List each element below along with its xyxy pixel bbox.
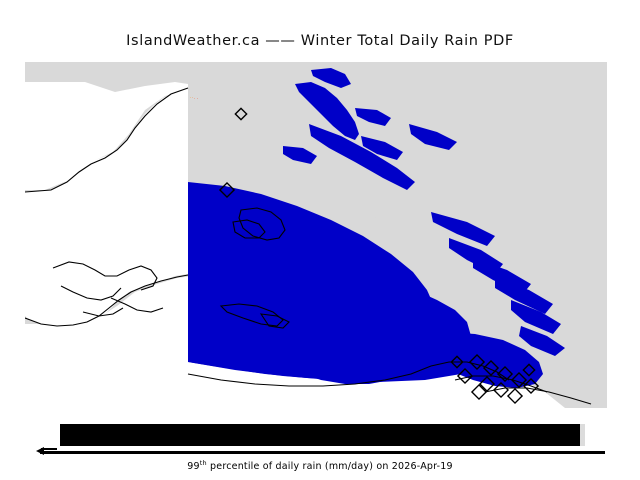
- map-panel[interactable]: [25, 62, 607, 408]
- caption-ordinal-suffix: th: [200, 459, 207, 467]
- caption-percentile-number: 99: [187, 461, 200, 472]
- figure-root: IslandWeather.ca —— Winter Total Daily R…: [0, 0, 640, 480]
- colorbar-gradient[interactable]: [60, 424, 580, 446]
- colorbar-caption: 99th percentile of daily rain (mm/day) o…: [0, 459, 640, 472]
- colorbar[interactable]: [60, 424, 585, 448]
- page-title: IslandWeather.ca —— Winter Total Daily R…: [0, 33, 640, 49]
- caption-rest: percentile of daily rain (mm/day) on 202…: [207, 461, 453, 472]
- colorbar-axis-line: [40, 451, 605, 454]
- rainfall-map[interactable]: [25, 62, 607, 408]
- colorbar-axis-tail: [41, 448, 57, 450]
- colorbar-endcap: [580, 424, 585, 446]
